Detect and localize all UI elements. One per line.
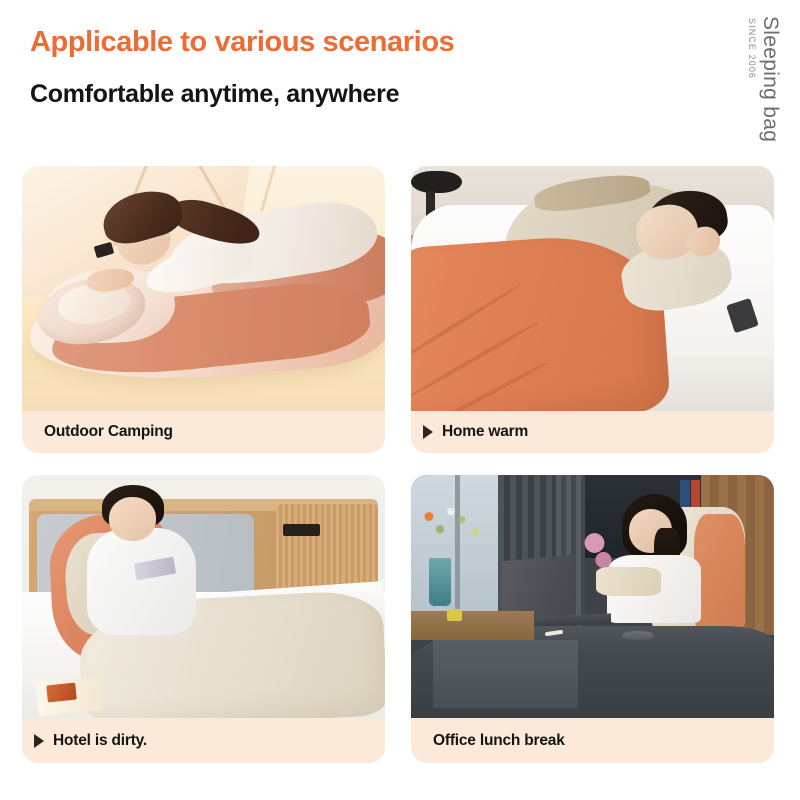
page-subtitle: Comfortable anytime, anywhere bbox=[30, 80, 690, 109]
play-triangle-icon bbox=[423, 425, 433, 439]
promo-page: Applicable to various scenarios Comforta… bbox=[0, 0, 800, 800]
scenario-photo-outdoor-camping bbox=[22, 166, 385, 411]
scenario-photo-office-lunch-break bbox=[411, 475, 774, 718]
scenario-card-hotel-is-dirty[interactable]: Hotel is dirty. bbox=[22, 475, 385, 763]
scenario-caption-outdoor-camping: Outdoor Camping bbox=[22, 411, 385, 453]
illustration-home-warm bbox=[411, 166, 774, 411]
bag-seam bbox=[411, 281, 523, 371]
scenario-caption-office-lunch-break: Office lunch break bbox=[411, 718, 774, 763]
brand-name-text: Sleeping bag bbox=[758, 16, 782, 142]
page-header: Applicable to various scenarios Comforta… bbox=[30, 26, 690, 109]
lamp-icon bbox=[411, 171, 462, 193]
sleeping-bag-on-chair bbox=[694, 514, 745, 631]
scenario-caption-label: Home warm bbox=[442, 423, 528, 441]
scenario-card-home-warm[interactable]: Home warm bbox=[411, 166, 774, 453]
lap-cushion bbox=[596, 567, 661, 596]
person-head bbox=[109, 497, 156, 541]
brand-mark: SINCE 2006 Sleeping bag bbox=[747, 16, 782, 166]
desk-wood-section bbox=[411, 611, 534, 640]
vase-object bbox=[429, 558, 451, 607]
scenario-card-outdoor-camping[interactable]: Outdoor Camping bbox=[22, 166, 385, 453]
tent-pole-icon bbox=[259, 166, 281, 214]
scenario-caption-label: Hotel is dirty. bbox=[53, 732, 147, 750]
scenario-card-office-lunch-break[interactable]: Office lunch break bbox=[411, 475, 774, 763]
magazine-cover-art bbox=[47, 682, 78, 702]
mouse-object bbox=[622, 631, 655, 641]
cup-object bbox=[447, 609, 462, 621]
bag-seam bbox=[417, 360, 549, 411]
desk-front-panel bbox=[433, 640, 578, 708]
page-title: Applicable to various scenarios bbox=[30, 26, 690, 59]
brand-since-text: SINCE 2006 bbox=[747, 16, 757, 79]
scenario-photo-home-warm bbox=[411, 166, 774, 411]
illustration-office bbox=[411, 475, 774, 718]
play-triangle-icon bbox=[34, 734, 44, 748]
illustration-hotel bbox=[22, 475, 385, 718]
wall-switch-icon bbox=[283, 524, 319, 536]
person-torso bbox=[87, 528, 196, 635]
bag-seam bbox=[411, 320, 539, 403]
scenario-caption-hotel-is-dirty: Hotel is dirty. bbox=[22, 718, 385, 763]
scenario-caption-home-warm: Home warm bbox=[411, 411, 774, 453]
scenario-grid: Outdoor Camping bbox=[22, 166, 778, 763]
scenario-caption-label: Office lunch break bbox=[433, 732, 565, 750]
illustration-outdoor-camping bbox=[22, 166, 385, 411]
scenario-caption-label: Outdoor Camping bbox=[44, 423, 173, 441]
scenario-photo-hotel-is-dirty bbox=[22, 475, 385, 718]
